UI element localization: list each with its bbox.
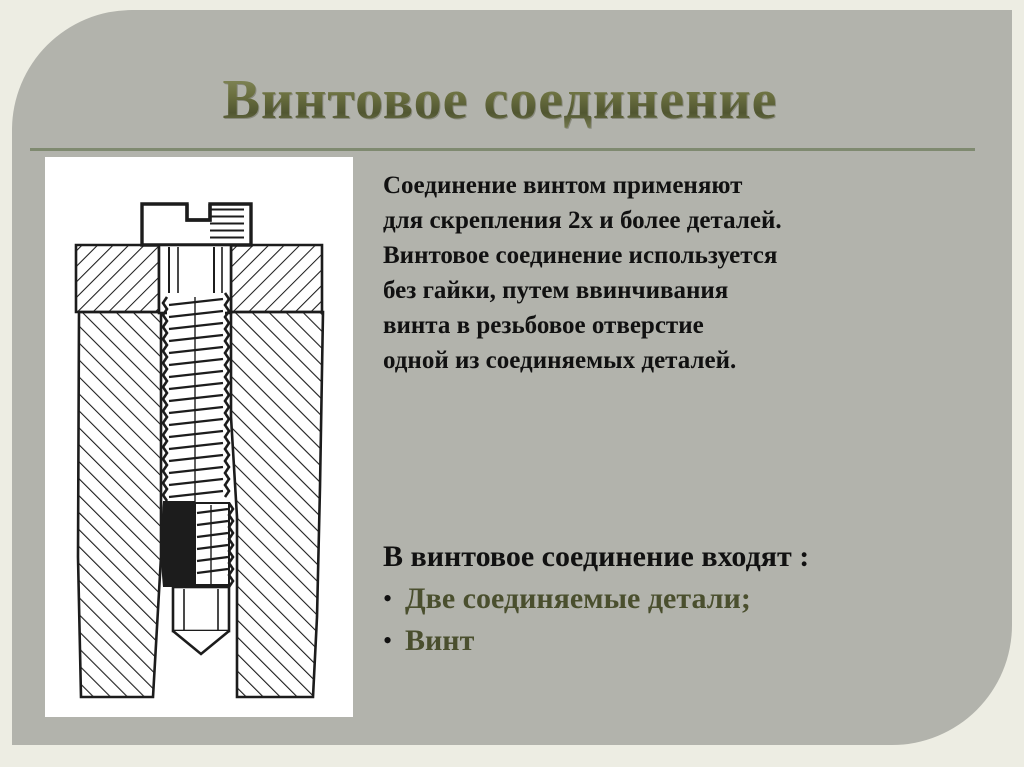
paragraph-line: одной из соединяемых деталей.: [383, 343, 983, 378]
paragraph-line: для скрепления 2х и более деталей.: [383, 203, 983, 238]
list-item-label: Две соединяемые детали;: [405, 578, 751, 620]
paragraph-line: Винтовое соединение используется: [383, 238, 983, 273]
slide-root: Винтовое соединение: [0, 0, 1024, 767]
screw-joint-drawing: [45, 157, 353, 717]
components-list: В винтовое соединение входят : • Две сое…: [383, 536, 1003, 662]
title-divider: [30, 148, 975, 151]
list-item: • Винт: [383, 620, 1003, 662]
page-title: Винтовое соединение: [222, 68, 777, 132]
slide-title-container: Винтовое соединение: [0, 68, 1000, 148]
screw-thread: [163, 293, 229, 518]
thread-runout: [161, 501, 233, 587]
paragraph-line: без гайки, путем ввинчивания: [383, 273, 983, 308]
list-item: • Две соединяемые детали;: [383, 578, 1003, 620]
paragraph-line: винта в резьбовое отверстие: [383, 308, 983, 343]
bullet-icon: •: [383, 578, 405, 620]
illustration-panel: [45, 157, 353, 717]
bullet-icon: •: [383, 620, 405, 662]
body-paragraph: Соединение винтом применяют для скреплен…: [383, 168, 983, 378]
paragraph-line: Соединение винтом применяют: [383, 168, 983, 203]
list-heading: В винтовое соединение входят :: [383, 536, 1003, 578]
list-item-label: Винт: [405, 620, 474, 662]
